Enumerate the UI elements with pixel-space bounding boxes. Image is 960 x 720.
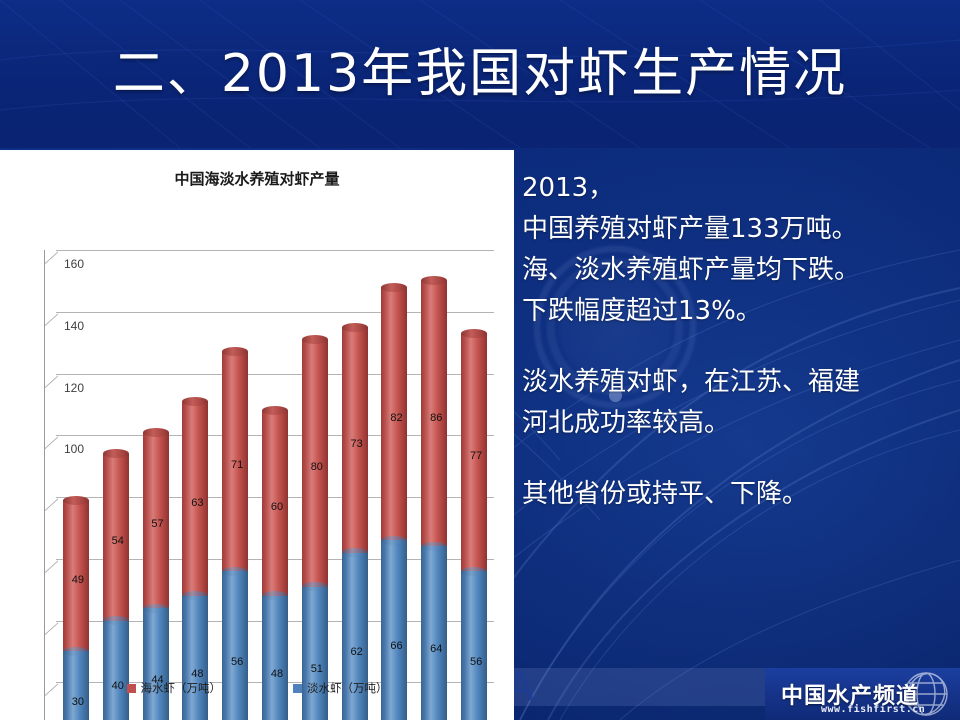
chart-data-label-seawater: 86: [430, 412, 442, 424]
chart-bar-segment-freshwater: [182, 596, 208, 720]
chart-legend: 海水虾（万吨）淡水虾（万吨）: [0, 680, 514, 696]
chart-bar-segment-freshwater: [143, 608, 169, 720]
chart-bar-segment-freshwater: [222, 571, 248, 720]
chart-bar[interactable]: [342, 327, 368, 720]
chart-data-label-freshwater: 48: [271, 668, 283, 680]
commentary-line: 下跌幅度超过13%。: [522, 291, 954, 332]
slide-header: 二、2013年我国对虾生产情况: [0, 0, 960, 148]
chart-bar-top-cap: [262, 406, 288, 415]
chart-bar-segment-freshwater: [302, 587, 328, 720]
chart-bar-top-cap: [461, 329, 487, 338]
chart-data-label-seawater: 63: [191, 497, 203, 509]
chart-bar-segment-freshwater: [461, 571, 487, 720]
chart-data-label-freshwater: 62: [351, 646, 363, 658]
chart-bar-mid-cap: [461, 567, 487, 576]
chart-panel: 中国海淡水养殖对虾产量 0204060801001201401603049405…: [0, 150, 514, 720]
chart-data-label-freshwater: 64: [430, 643, 442, 655]
chart-data-label-freshwater: 56: [470, 656, 482, 668]
chart-data-label-seawater: 73: [351, 438, 363, 450]
chart-data-label-seawater: 49: [72, 574, 84, 586]
page-title: 二、2013年我国对虾生产情况: [0, 44, 960, 104]
chart-data-label-seawater: 60: [271, 501, 283, 513]
chart-data-label-freshwater: 51: [311, 663, 323, 675]
chart-plot-area: 0204060801001201401603049405444574863567…: [44, 250, 494, 720]
chart-y-axis: [44, 250, 45, 720]
commentary-line: 河北成功率较高。: [522, 403, 954, 444]
legend-swatch-icon: [127, 684, 136, 693]
chart-data-label-freshwater: 66: [390, 640, 402, 652]
chart-bar-mid-cap: [63, 647, 89, 656]
commentary-line: 淡水养殖对虾，在江苏、福建: [522, 362, 954, 403]
chart-bar-top-cap: [63, 496, 89, 505]
commentary-line: 海、淡水养殖虾产量均下跌。: [522, 250, 954, 291]
chart-bar-mid-cap: [381, 536, 407, 545]
chart-data-label-freshwater: 48: [191, 668, 203, 680]
chart-title: 中国海淡水养殖对虾产量: [0, 168, 514, 189]
commentary-line: 中国养殖对虾产量133万吨。: [522, 209, 954, 250]
commentary-panel: 2013， 中国养殖对虾产量133万吨。 海、淡水养殖虾产量均下跌。 下跌幅度超…: [522, 168, 954, 515]
chart-data-label-seawater: 71: [231, 459, 243, 471]
chart-bar-mid-cap: [342, 548, 368, 557]
legend-swatch-icon: [293, 684, 302, 693]
chart-legend-label: 淡水虾（万吨）: [307, 680, 388, 696]
chart-bar[interactable]: [381, 287, 407, 720]
chart-bar-top-cap: [143, 428, 169, 437]
chart-data-label-seawater: 57: [151, 518, 163, 530]
chart-bar-top-cap: [381, 283, 407, 292]
chart-legend-item[interactable]: 海水虾（万吨）: [127, 680, 222, 696]
chart-data-label-freshwater: 56: [231, 656, 243, 668]
chart-bar-top-cap: [342, 323, 368, 332]
commentary-line: 其他省份或持平、下降。: [522, 474, 954, 515]
chart-bar-top-cap: [182, 397, 208, 406]
chart-legend-item[interactable]: 淡水虾（万吨）: [293, 680, 388, 696]
chart-bar-mid-cap: [143, 604, 169, 613]
chart-data-label-seawater: 80: [311, 461, 323, 473]
chart-bar-top-cap: [302, 335, 328, 344]
chart-bars: 3049405444574863567148605180627366826486…: [56, 250, 494, 720]
chart-legend-label: 海水虾（万吨）: [141, 680, 222, 696]
chart-bar-mid-cap: [421, 542, 447, 551]
chart-data-label-seawater: 82: [390, 412, 402, 424]
commentary-spacer: [522, 332, 954, 362]
chart-bar-mid-cap: [302, 582, 328, 591]
chart-bar-segment-freshwater: [103, 621, 129, 720]
chart-data-label-freshwater: 30: [72, 696, 84, 708]
commentary-spacer: [522, 444, 954, 474]
chart-bar-segment-freshwater: [262, 596, 288, 720]
chart-bar-mid-cap: [103, 616, 129, 625]
channel-logo: 中国水产频道 www.fishfirst.cn: [765, 668, 960, 720]
commentary-line: 2013，: [522, 168, 954, 209]
logo-url: www.fishfirst.cn: [821, 704, 925, 715]
chart-data-label-seawater: 77: [470, 450, 482, 462]
slide-root: A 二、2013年我国对虾生产情况 中国海淡水养殖对虾产量 0204060801…: [0, 0, 960, 720]
chart-bar-mid-cap: [222, 567, 248, 576]
chart-data-label-seawater: 54: [112, 535, 124, 547]
